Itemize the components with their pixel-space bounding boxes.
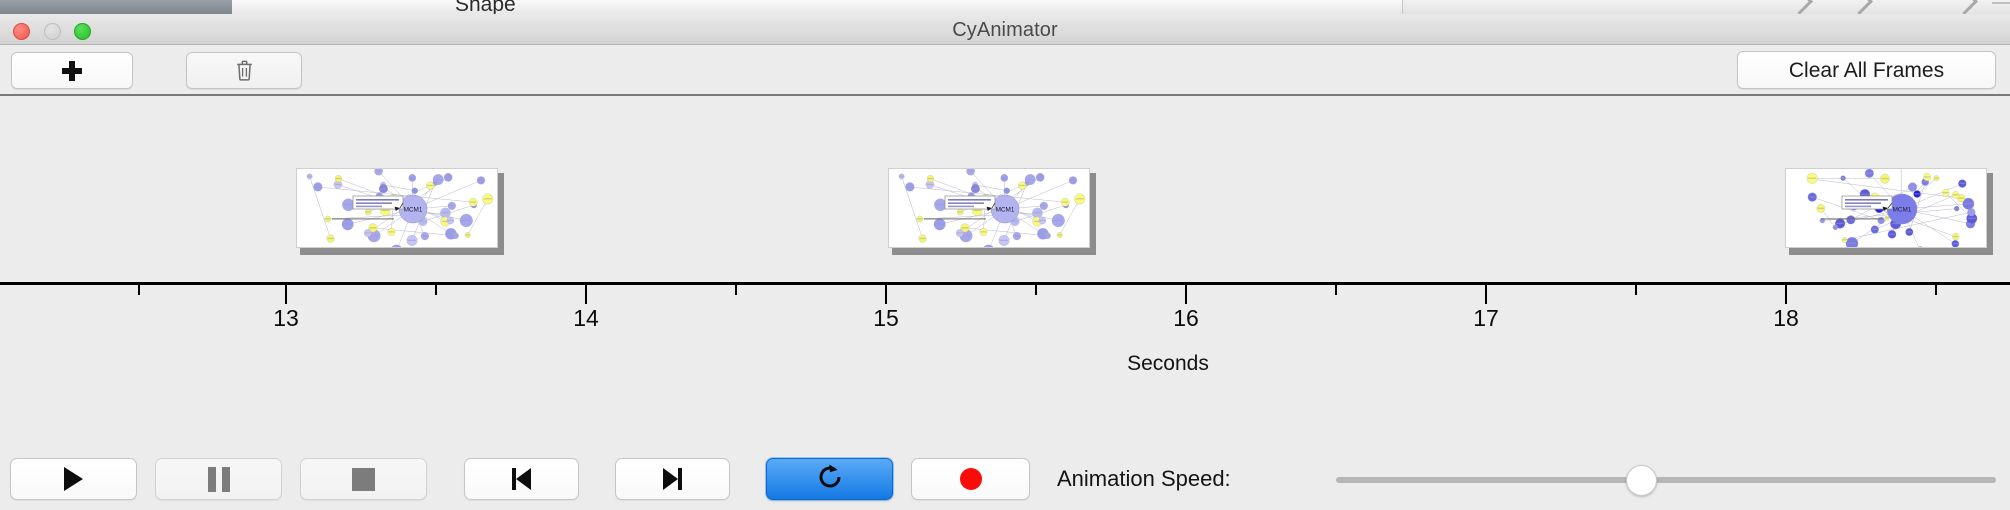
ruler-tick-label: 16: [1173, 307, 1199, 330]
skip-to-start-button[interactable]: [464, 458, 579, 500]
network-view-thumbnail: MCM1: [1785, 168, 1987, 248]
svg-text:MCM1: MCM1: [404, 207, 423, 214]
play-button[interactable]: [10, 458, 137, 500]
ruler-tick-major: [285, 285, 287, 304]
ruler-tick-label: 14: [573, 307, 599, 330]
play-icon: [64, 467, 83, 491]
background-window-strip: Shape: [0, 0, 2010, 15]
keyframe-thumbnail[interactable]: MCM1: [888, 168, 1094, 252]
window-title: CyAnimator: [0, 20, 2010, 40]
chevron-down-icon: [1846, 0, 1873, 15]
pause-icon: [208, 467, 230, 492]
network-view-thumbnail: MCM1: [888, 168, 1090, 248]
cyanimator-window: Shape CyAnimator Clear All: [0, 0, 2010, 510]
ruler-tick-major: [1185, 285, 1187, 304]
ruler-tick-minor: [1035, 285, 1037, 295]
timeline-panel[interactable]: MCM1MCM1MCM1 2131415161718 Seconds: [0, 94, 2010, 414]
ruler-tick-minor: [735, 285, 737, 295]
skip-to-end-button[interactable]: [615, 458, 730, 500]
clear-all-frames-label: Clear All Frames: [1789, 60, 1944, 81]
axis-title-label: Seconds: [1127, 352, 1209, 375]
slider-track: [1336, 477, 1996, 483]
titlebar: CyAnimator: [0, 14, 2010, 45]
background-shape-label: Shape: [455, 0, 516, 15]
add-frame-button[interactable]: [11, 52, 133, 89]
ruler-tick-major: [885, 285, 887, 304]
ruler-tick-minor: [435, 285, 437, 295]
svg-text:MCM1: MCM1: [996, 207, 1015, 214]
skip-back-icon: [512, 468, 531, 490]
ruler-tick-minor: [1635, 285, 1637, 295]
record-button[interactable]: [911, 458, 1030, 500]
ruler-tick-minor: [1335, 285, 1337, 295]
chevron-down-icon: [1786, 0, 1813, 15]
background-tab: [352, 0, 413, 14]
plus-icon: [62, 61, 82, 81]
skip-forward-icon: [663, 468, 682, 490]
axis-title: Seconds: [0, 353, 2010, 374]
ruler-tick-major: [1485, 285, 1487, 304]
svg-text:MCM1: MCM1: [1893, 207, 1912, 214]
animation-speed-label: Animation Speed:: [1057, 468, 1231, 490]
ruler-tick-minor: [138, 285, 140, 295]
background-tab: [722, 0, 1223, 14]
background-tab: [582, 0, 723, 14]
background-tab: [232, 0, 353, 14]
pause-button[interactable]: [155, 458, 282, 500]
background-tab: [1222, 0, 1403, 14]
stop-icon: [352, 468, 375, 491]
trash-icon: [236, 60, 253, 81]
background-dark-tab: [0, 0, 232, 14]
slider-thumb[interactable]: [1626, 465, 1657, 496]
keyframe-thumbnail[interactable]: MCM1: [296, 168, 502, 252]
animation-speed-slider[interactable]: [1336, 472, 1996, 488]
chevron-down-icon: [1951, 0, 1978, 15]
ruler-tick-major: [1785, 285, 1787, 304]
ruler-tick-label: 13: [273, 307, 299, 330]
keyframe-track[interactable]: MCM1MCM1MCM1: [0, 96, 2010, 282]
ruler-tick-label: 17: [1473, 307, 1499, 330]
loop-icon: [816, 463, 844, 496]
timeline-ruler[interactable]: 2131415161718: [0, 282, 2010, 352]
playback-controls: Animation Speed:: [0, 450, 2010, 510]
ruler-tick-minor: [1935, 285, 1937, 295]
clear-all-frames-button[interactable]: Clear All Frames: [1737, 51, 1996, 89]
ruler-tick-label: 18: [1773, 307, 1799, 330]
loop-button[interactable]: [766, 458, 893, 500]
stop-button[interactable]: [300, 458, 427, 500]
record-icon: [960, 468, 982, 490]
ruler-tick-major: [585, 285, 587, 304]
ruler-tick-label: 15: [873, 307, 899, 330]
delete-frame-button[interactable]: [186, 52, 302, 89]
keyframe-thumbnail[interactable]: MCM1: [1785, 168, 1991, 252]
ruler-baseline: [0, 282, 2010, 285]
toolbar: Clear All Frames: [0, 45, 2010, 94]
network-view-thumbnail: MCM1: [296, 168, 498, 248]
